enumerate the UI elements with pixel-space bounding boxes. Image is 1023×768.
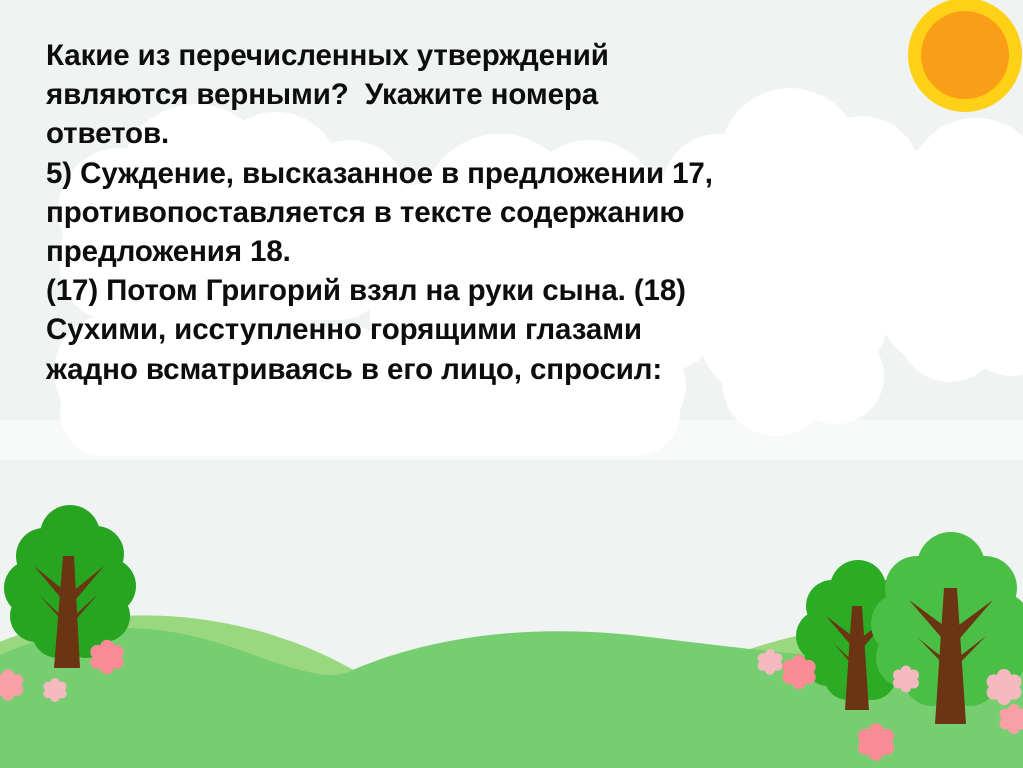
text-line: 5) Суждение, высказанное в предложении 1… — [46, 154, 926, 193]
text-line: жадно всматриваясь в его лицо, спросил: — [46, 350, 926, 389]
text-line: (17) Потом Григорий взял на руки сына. (… — [46, 271, 926, 310]
presentation-slide: Какие из перечисленных утверждений являю… — [0, 0, 1023, 768]
text-line: ответов. — [46, 114, 926, 153]
text-line: являются верными? Укажите номера — [46, 75, 926, 114]
text-line: предложения 18. — [46, 232, 926, 271]
text-line: Сухими, исступленно горящими глазами — [46, 310, 926, 349]
text-line: противопоставляется в тексте содержанию — [46, 193, 926, 232]
text-line: Какие из перечисленных утверждений — [46, 36, 926, 75]
slide-body-text: Какие из перечисленных утверждений являю… — [46, 36, 926, 389]
